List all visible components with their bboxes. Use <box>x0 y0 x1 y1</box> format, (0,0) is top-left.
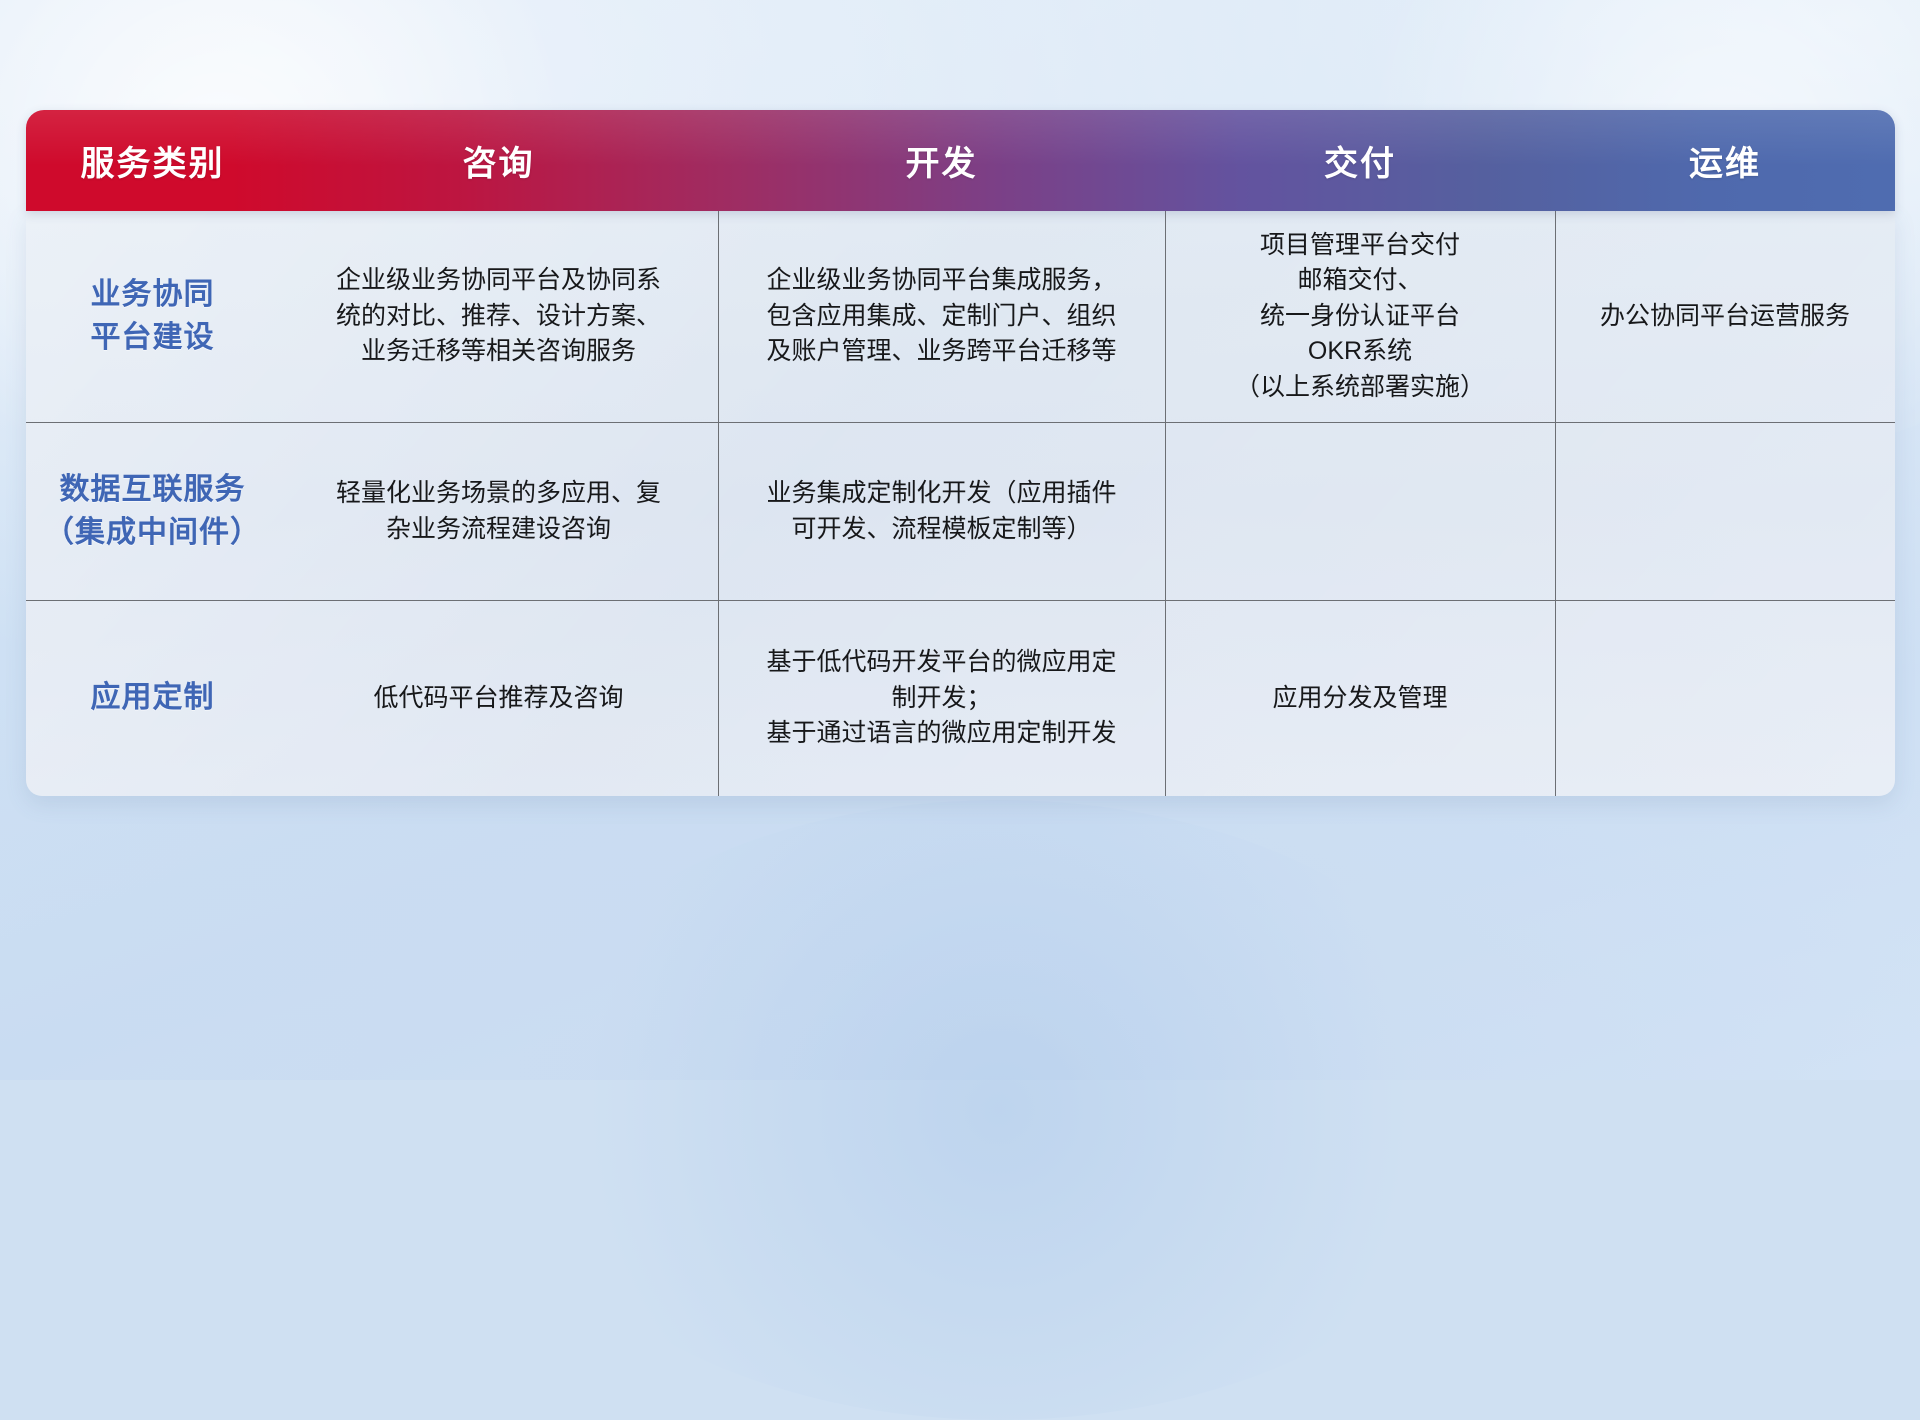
row-label-application-customization: 应用定制 <box>26 601 279 796</box>
service-matrix-table: 服务类别 咨询 开发 交付 运维 业务协同 平台建设 企业级业务协同平台及协同系… <box>26 110 1895 796</box>
cell-consulting-row1: 企业级业务协同平台及协同系 统的对比、推荐、设计方案、 业务迁移等相关咨询服务 <box>279 211 718 422</box>
column-header-development: 开发 <box>718 110 1165 211</box>
cell-development-row3: 基于低代码开发平台的微应用定 制开发； 基于通过语言的微应用定制开发 <box>718 601 1165 796</box>
table-row: 业务协同 平台建设 企业级业务协同平台及协同系 统的对比、推荐、设计方案、 业务… <box>26 211 1895 422</box>
row-label-business-collaboration: 业务协同 平台建设 <box>26 211 279 422</box>
column-header-operations: 运维 <box>1555 110 1895 211</box>
cell-operations-row2 <box>1555 423 1895 600</box>
cell-development-row2: 业务集成定制化开发（应用插件 可开发、流程模板定制等） <box>718 423 1165 600</box>
table-header-row: 服务类别 咨询 开发 交付 运维 <box>26 110 1895 211</box>
table-row: 应用定制 低代码平台推荐及咨询 基于低代码开发平台的微应用定 制开发； 基于通过… <box>26 600 1895 796</box>
cell-delivery-row2 <box>1165 423 1555 600</box>
table-row: 数据互联服务 （集成中间件） 轻量化业务场景的多应用、复 杂业务流程建设咨询 业… <box>26 422 1895 600</box>
column-header-service-category: 服务类别 <box>26 110 279 211</box>
cell-delivery-row3: 应用分发及管理 <box>1165 601 1555 796</box>
background-glow-bottom <box>499 800 1499 1420</box>
cell-operations-row1: 办公协同平台运营服务 <box>1555 211 1895 422</box>
table-body: 业务协同 平台建设 企业级业务协同平台及协同系 统的对比、推荐、设计方案、 业务… <box>26 211 1895 796</box>
cell-operations-row3 <box>1555 601 1895 796</box>
cell-consulting-row2: 轻量化业务场景的多应用、复 杂业务流程建设咨询 <box>279 423 718 600</box>
cell-consulting-row3: 低代码平台推荐及咨询 <box>279 601 718 796</box>
cell-development-row1: 企业级业务协同平台集成服务， 包含应用集成、定制门户、组织 及账户管理、业务跨平… <box>718 211 1165 422</box>
row-label-data-interconnection: 数据互联服务 （集成中间件） <box>26 423 279 600</box>
cell-delivery-row1: 项目管理平台交付 邮箱交付、 统一身份认证平台 OKR系统 （以上系统部署实施） <box>1165 211 1555 422</box>
column-header-delivery: 交付 <box>1165 110 1555 211</box>
column-header-consulting: 咨询 <box>279 110 718 211</box>
